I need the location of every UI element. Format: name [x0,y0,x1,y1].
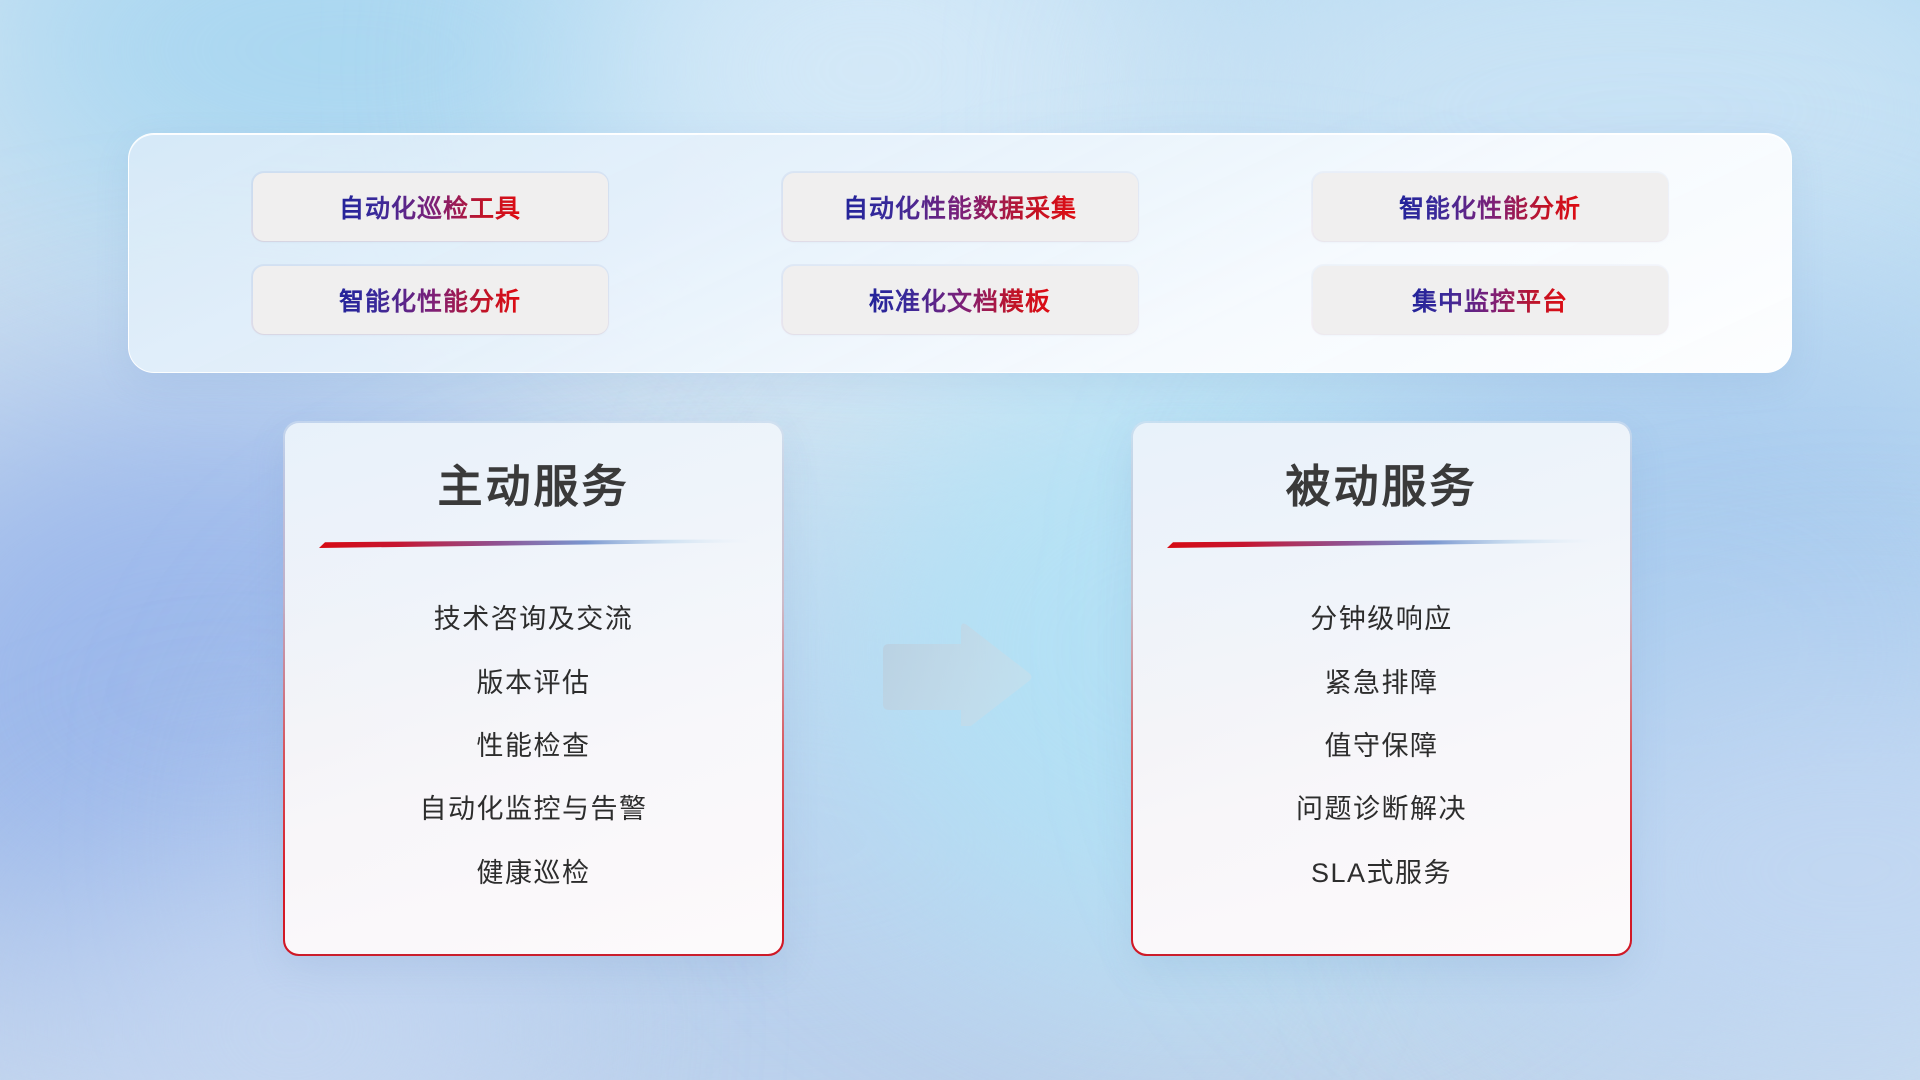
capability-pill-3[interactable]: 智能化性能分析 [1313,173,1668,241]
title-divider-rule [319,539,749,549]
service-list-item: SLA式服务 [1311,851,1452,890]
capability-pill-label: 智能化性能分析 [1399,189,1581,225]
service-list-item: 紧急排障 [1325,661,1439,700]
capability-panel: 自动化巡检工具 自动化性能数据采集 智能化性能分析 智能化性能分析 标准化文档模… [128,133,1792,373]
service-card-reactive: 被动服务 分钟级响应 紧急排障 值守保障 [1133,423,1630,954]
capability-pill-label: 集中监控平台 [1412,282,1568,318]
service-item-list: 分钟级响应 紧急排障 值守保障 问题诊断解决 SLA式服务 [1159,567,1604,928]
service-card-title: 主动服务 [437,461,629,513]
service-item-list: 技术咨询及交流 版本评估 性能检查 自动化监控与告警 健康巡检 [311,567,756,928]
capability-pill-label: 自动化巡检工具 [339,189,521,225]
capability-pill-2[interactable]: 自动化性能数据采集 [783,173,1138,241]
title-divider-rule [1167,539,1597,549]
capability-pill-1[interactable]: 自动化巡检工具 [253,173,608,241]
capability-pill-label: 标准化文档模板 [869,282,1051,318]
service-list-item: 问题诊断解决 [1296,787,1467,826]
service-card-proactive: 主动服务 技术咨询及交流 版本评估 性能检查 [285,423,782,954]
service-list-item: 健康巡检 [477,851,591,890]
service-list-item: 自动化监控与告警 [420,787,648,826]
service-card-title: 被动服务 [1285,461,1477,513]
capability-pill-label: 自动化性能数据采集 [843,189,1077,225]
capability-pill-5[interactable]: 标准化文档模板 [783,266,1138,334]
capability-pill-4[interactable]: 智能化性能分析 [253,266,608,334]
arrow-right-icon [877,622,1035,726]
service-list-item: 分钟级响应 [1310,597,1453,636]
capability-pill-6[interactable]: 集中监控平台 [1313,266,1668,334]
service-list-item: 性能检查 [477,724,591,763]
capability-pill-label: 智能化性能分析 [339,282,521,318]
service-list-item: 版本评估 [477,661,591,700]
service-list-item: 技术咨询及交流 [434,597,634,636]
service-list-item: 值守保障 [1325,724,1439,763]
